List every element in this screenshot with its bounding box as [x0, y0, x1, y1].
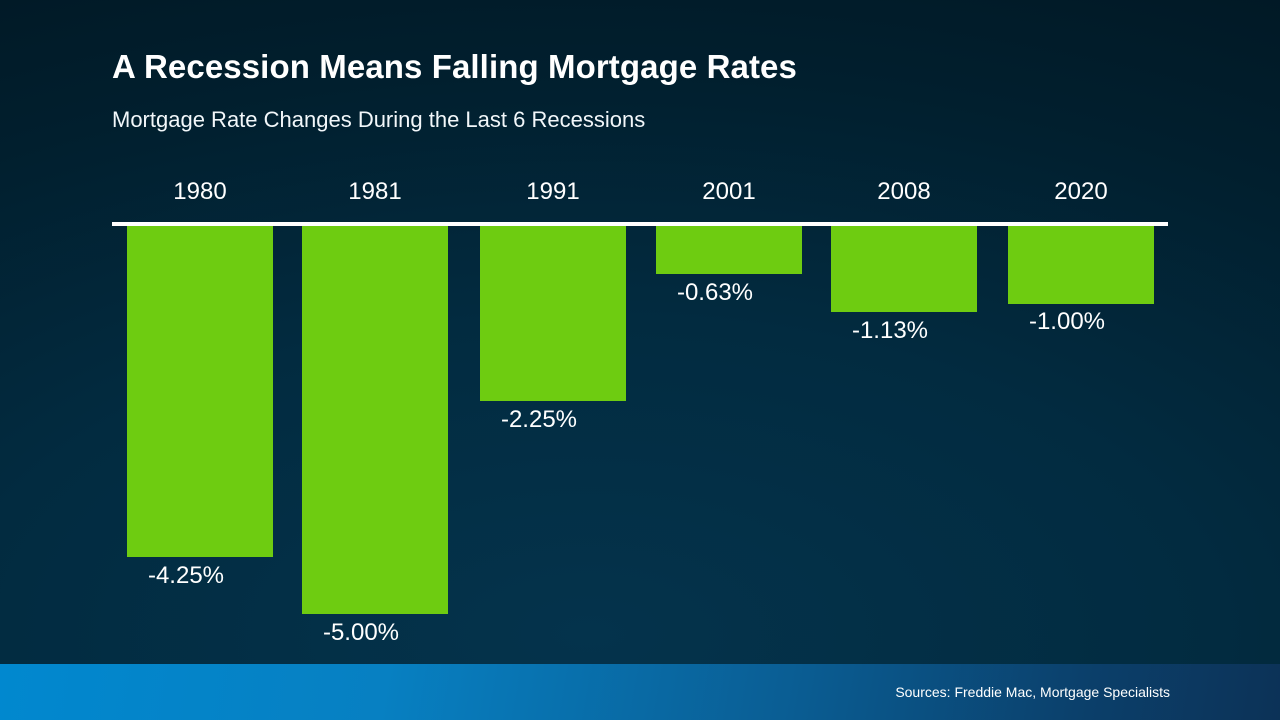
bar-2020[interactable]: [1008, 226, 1154, 304]
bar-2001[interactable]: [656, 226, 802, 274]
x-tick-label: 1981: [302, 176, 448, 208]
bar-chart: 1980 -4.25% 1981 -5.00% 1991 -2.25% 2001…: [112, 176, 1172, 646]
bar-1981[interactable]: [302, 226, 448, 614]
bar-value-label-2008: -1.13%: [817, 316, 963, 346]
bar-value-label-2020: -1.00%: [994, 307, 1140, 337]
bar-value-label-2001: -0.63%: [642, 278, 788, 308]
x-tick-label: 2001: [656, 176, 802, 208]
bar-value-label-1980: -4.25%: [113, 561, 259, 591]
x-tick-label: 1991: [480, 176, 626, 208]
bar-2008[interactable]: [831, 226, 977, 312]
sources-note: Sources: Freddie Mac, Mortgage Specialis…: [895, 684, 1170, 700]
x-tick-label: 2020: [1008, 176, 1154, 208]
bar-value-label-1981: -5.00%: [288, 618, 434, 648]
page-subtitle: Mortgage Rate Changes During the Last 6 …: [112, 107, 645, 133]
slide-canvas: A Recession Means Falling Mortgage Rates…: [0, 0, 1280, 720]
x-tick-label: 2008: [831, 176, 977, 208]
bar-1991[interactable]: [480, 226, 626, 401]
x-tick-label: 1980: [127, 176, 273, 208]
bar-1980[interactable]: [127, 226, 273, 557]
bar-value-label-1991: -2.25%: [466, 405, 612, 435]
page-title: A Recession Means Falling Mortgage Rates: [112, 48, 797, 86]
